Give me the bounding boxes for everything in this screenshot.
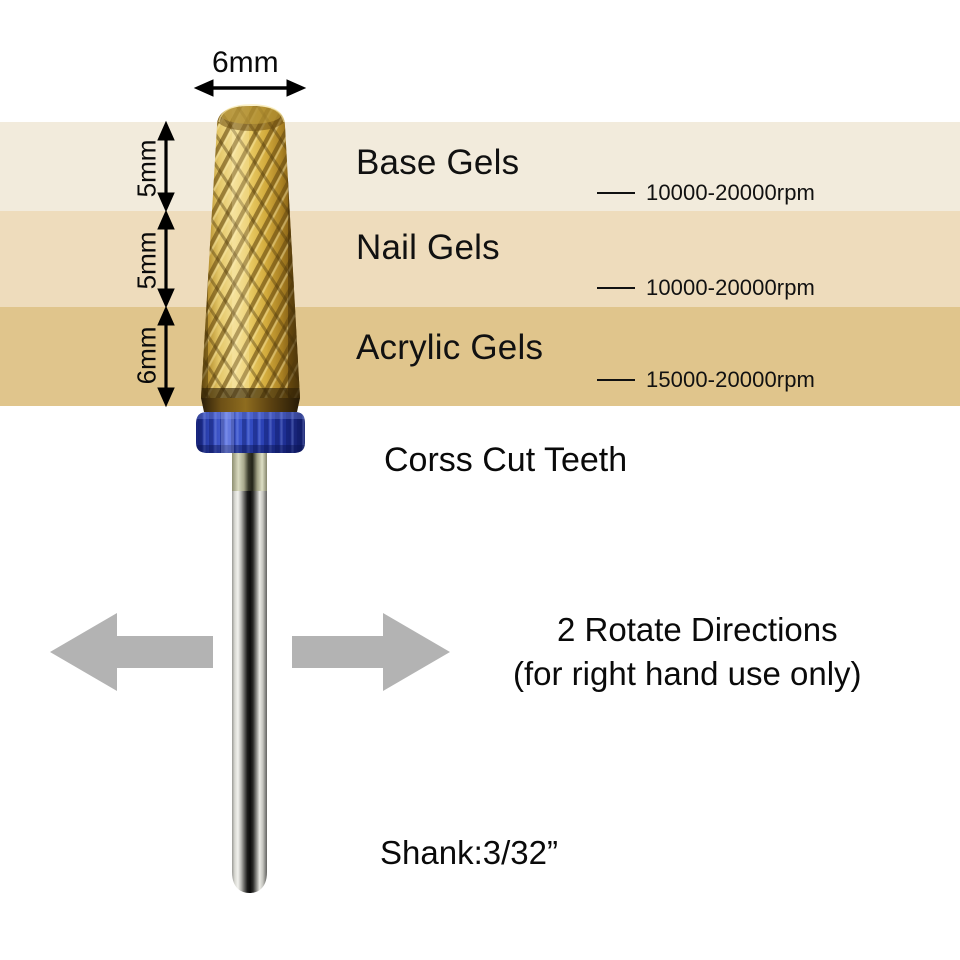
height-dimension-label-1: 5mm xyxy=(132,129,163,209)
width-dimension-label: 6mm xyxy=(212,46,279,80)
infographic-canvas: 6mm 5mm 5mm 6mm Base Gels Nail Gels Acry… xyxy=(0,0,960,960)
height-dimension-label-3: 6mm xyxy=(132,316,163,396)
bit-head-base-ring xyxy=(201,398,300,412)
band-label-base-gels: Base Gels xyxy=(356,143,519,183)
caption-shank-size: Shank:3/32” xyxy=(380,834,558,872)
rotate-right-arrow-icon xyxy=(292,613,450,691)
rpm-value-acrylic-gels: 15000-20000rpm xyxy=(646,367,815,393)
caption-cut-teeth: Corss Cut Teeth xyxy=(384,441,627,480)
bit-shank xyxy=(232,453,267,893)
rpm-callout-acrylic-gels: 15000-20000rpm xyxy=(597,367,815,393)
rpm-dash-icon xyxy=(597,192,635,194)
rpm-callout-base-gels: 10000-20000rpm xyxy=(597,180,815,206)
rotate-left-arrow-icon xyxy=(50,613,213,691)
rpm-dash-icon xyxy=(597,379,635,381)
caption-rotate-note: (for right hand use only) xyxy=(513,655,862,693)
rpm-value-nail-gels: 10000-20000rpm xyxy=(646,275,815,301)
bit-head xyxy=(190,100,315,406)
width-dimension-arrow xyxy=(195,80,305,96)
band-label-acrylic-gels: Acrylic Gels xyxy=(356,328,543,368)
rpm-callout-nail-gels: 10000-20000rpm xyxy=(597,275,815,301)
rpm-value-base-gels: 10000-20000rpm xyxy=(646,180,815,206)
bit-collar xyxy=(196,412,306,454)
rpm-dash-icon xyxy=(597,287,635,289)
band-label-nail-gels: Nail Gels xyxy=(356,228,500,268)
height-dimension-label-2: 5mm xyxy=(132,221,163,301)
caption-rotate-directions: 2 Rotate Directions xyxy=(557,611,838,649)
